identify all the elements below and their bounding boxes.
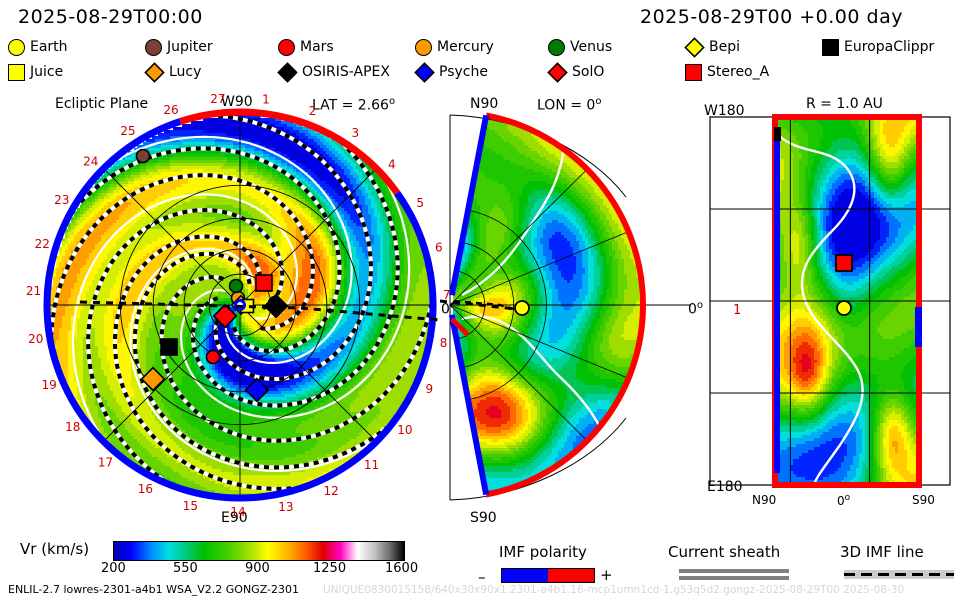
legend-item-bepi: Bepi bbox=[685, 36, 740, 58]
ecliptic-ring-tick: 17 bbox=[98, 455, 113, 469]
legend-item-label: Stereo_A bbox=[707, 64, 769, 80]
ecliptic-ring-tick: 15 bbox=[183, 499, 198, 513]
diamond-marker-icon bbox=[414, 62, 434, 82]
diamond-marker-icon bbox=[144, 62, 164, 82]
body-marker-earth[interactable] bbox=[515, 301, 529, 315]
legend-item-label: Mercury bbox=[437, 39, 494, 55]
legend-item-stereo-a: Stereo_A bbox=[685, 61, 769, 83]
colorbar-gradient bbox=[113, 541, 405, 561]
meridional-velocity-field bbox=[453, 118, 646, 497]
diamond-marker-icon bbox=[547, 62, 567, 82]
legend-item-label: Jupiter bbox=[167, 39, 213, 55]
meridional-plot-canvas bbox=[440, 105, 700, 510]
imf-line-dashes bbox=[844, 573, 954, 576]
square-marker-icon bbox=[8, 64, 25, 81]
shell-ytick-1: 1 bbox=[733, 303, 741, 318]
shell-polarity-marker bbox=[774, 127, 781, 141]
circle-marker-icon bbox=[548, 39, 565, 56]
square-marker-icon bbox=[822, 39, 839, 56]
meridional-bottom-axis-label: S90 bbox=[470, 510, 497, 526]
legend-item-mars: Mars bbox=[278, 36, 334, 58]
ecliptic-ring-tick: 21 bbox=[26, 284, 41, 298]
ecliptic-ring-tick: 20 bbox=[28, 332, 43, 346]
ecliptic-ring-tick: 4 bbox=[388, 157, 396, 171]
legend-item-europaclippr: EuropaClippr bbox=[822, 36, 934, 58]
footer-watermark: UNIQUE0830015158/640x30x90x1.2301-a4b1.1… bbox=[323, 584, 904, 596]
body-marker-stereo-a[interactable] bbox=[256, 275, 272, 291]
legend-item-label: SolO bbox=[572, 64, 604, 80]
body-marker-venus[interactable] bbox=[230, 280, 243, 293]
legend-item-label: Mars bbox=[300, 39, 334, 55]
diamond-marker-icon bbox=[277, 62, 297, 82]
legend-item-solo: SolO bbox=[548, 61, 604, 83]
legend-item-psyche: Psyche bbox=[415, 61, 488, 83]
colorbar-tick-200: 200 bbox=[101, 561, 126, 576]
colorbar-label: Vr (km/s) bbox=[20, 540, 89, 558]
imf-polarity-title: IMF polarity bbox=[499, 543, 587, 561]
circle-marker-icon bbox=[8, 39, 25, 56]
legend-item-earth: Earth bbox=[8, 36, 68, 58]
circle-marker-icon bbox=[145, 39, 162, 56]
legend-item-label: Venus bbox=[570, 39, 612, 55]
legend-item-jupiter: Jupiter bbox=[145, 36, 213, 58]
meridional-slice-plot[interactable] bbox=[440, 105, 700, 510]
ecliptic-ring-tick: 16 bbox=[138, 482, 153, 496]
legend-item-label: Bepi bbox=[709, 39, 740, 55]
ecliptic-ring-tick: 24 bbox=[83, 155, 98, 169]
ecliptic-ring-tick: 19 bbox=[42, 378, 57, 392]
shell-xtick-1: 0o bbox=[837, 493, 850, 508]
body-legend: EarthJupiterMarsMercuryVenusBepiEuropaCl… bbox=[0, 36, 960, 84]
header-left-timestamp: 2025-08-29T00:00 bbox=[18, 6, 203, 28]
body-marker-earth[interactable] bbox=[837, 301, 851, 315]
ecliptic-ring-tick: 9 bbox=[425, 382, 433, 396]
current-sheath-swatch bbox=[679, 569, 789, 580]
ecliptic-ring-tick: 11 bbox=[364, 458, 379, 472]
body-marker-europaclippr[interactable] bbox=[161, 339, 177, 355]
legend-item-juice: Juice bbox=[8, 61, 63, 83]
ecliptic-ring-tick: 10 bbox=[397, 423, 412, 437]
ecliptic-plot-canvas: 1234567891011121314151617181920212223242… bbox=[0, 105, 460, 510]
colorbar-tick-550: 550 bbox=[173, 561, 198, 576]
colorbar-tick-900: 900 bbox=[245, 561, 270, 576]
ecliptic-ring-tick: 5 bbox=[416, 196, 424, 210]
header-right-timestamp: 2025-08-29T00 +0.00 day bbox=[640, 6, 903, 28]
legend-item-label: Earth bbox=[30, 39, 68, 55]
ecliptic-ring-tick: 2 bbox=[309, 104, 317, 118]
colorbar-tick-1600: 1600 bbox=[385, 561, 418, 576]
legend-item-venus: Venus bbox=[548, 36, 612, 58]
circle-marker-icon bbox=[278, 39, 295, 56]
ecliptic-ring-tick: 25 bbox=[120, 124, 135, 138]
ecliptic-ring-tick: 12 bbox=[324, 484, 339, 498]
legend-item-label: OSIRIS-APEX bbox=[302, 64, 390, 80]
ecliptic-ring-tick: 26 bbox=[163, 103, 178, 117]
legend-item-label: Psyche bbox=[439, 64, 488, 80]
imf-positive-swatch bbox=[548, 569, 594, 582]
ecliptic-ring-tick: 23 bbox=[54, 193, 69, 207]
colorbar-tick-1250: 1250 bbox=[313, 561, 346, 576]
legend-item-mercury: Mercury bbox=[415, 36, 494, 58]
diamond-marker-icon bbox=[684, 37, 704, 57]
imf-negative-swatch bbox=[502, 569, 548, 582]
shell-xtick-0: N90 bbox=[752, 493, 776, 507]
body-marker-jupiter[interactable] bbox=[137, 150, 150, 163]
shell-xtick-2: S90 bbox=[912, 493, 935, 507]
ecliptic-ring-tick: 27 bbox=[210, 92, 225, 106]
ecliptic-ring-tick: 18 bbox=[65, 420, 80, 434]
square-marker-icon bbox=[685, 64, 702, 81]
legend-item-label: Lucy bbox=[169, 64, 201, 80]
body-marker-stereo-a[interactable] bbox=[836, 255, 852, 271]
sheath-line-bottom bbox=[679, 576, 789, 580]
imf-line-swatch bbox=[844, 569, 954, 580]
colorbar-ticks: 20055090012501600 bbox=[0, 561, 440, 581]
ecliptic-ring-tick: 14 bbox=[230, 505, 245, 519]
legend-item-lucy: Lucy bbox=[145, 61, 201, 83]
body-marker-mars[interactable] bbox=[207, 351, 220, 364]
ecliptic-ring-tick: 22 bbox=[35, 237, 50, 251]
ecliptic-ring-tick: 1 bbox=[262, 93, 270, 107]
ecliptic-plane-plot[interactable]: 1234567891011121314151617181920212223242… bbox=[0, 105, 460, 510]
legend-item-osiris-apex: OSIRIS-APEX bbox=[278, 61, 390, 83]
legend-item-label: EuropaClippr bbox=[844, 39, 934, 55]
footer-model-string: ENLIL-2.7 lowres-2301-a4b1 WSA_V2.2 GONG… bbox=[8, 583, 299, 596]
imf-polarity-plus: + bbox=[600, 566, 613, 584]
current-sheath-title: Current sheath bbox=[668, 543, 780, 561]
shell-polarity-negative bbox=[915, 307, 922, 347]
ecliptic-ring-tick: 3 bbox=[352, 126, 360, 140]
ecliptic-ring-tick: 13 bbox=[278, 500, 293, 514]
imf-polarity-bar bbox=[501, 568, 595, 583]
shell-polarity-negative bbox=[774, 129, 780, 473]
imf-line-title: 3D IMF line bbox=[840, 543, 924, 561]
legend-item-label: Juice bbox=[30, 64, 63, 80]
circle-marker-icon bbox=[415, 39, 432, 56]
